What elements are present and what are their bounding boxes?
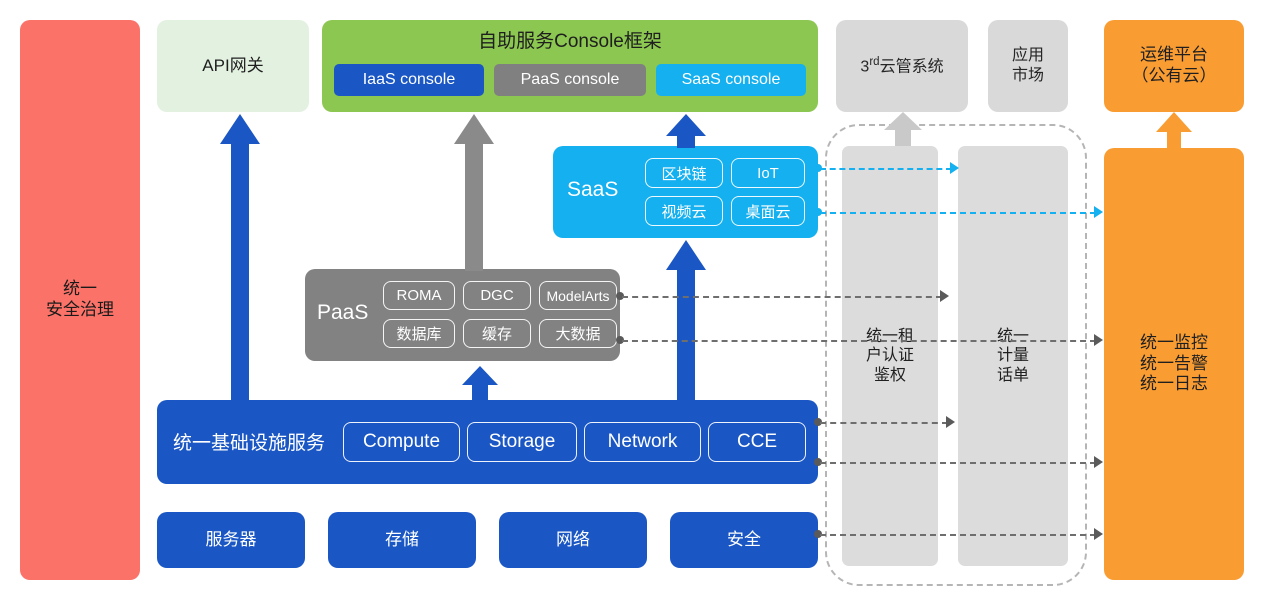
saas-layer: SaaS 区块链 IoT 视频云 桌面云 (553, 146, 818, 238)
third-party-superscript: rd (869, 56, 879, 68)
tenant-auth-line1: 统一租 (866, 327, 914, 347)
paas-console-button[interactable]: PaaS console (494, 64, 646, 96)
flow-arrowhead-infra-2 (1094, 456, 1103, 468)
infra-chip-cce-label: CCE (737, 431, 777, 453)
metering-line3: 话单 (997, 366, 1029, 386)
infra-chip-storage-label: Storage (489, 431, 556, 453)
unified-tenant-auth-column: 统一租 户认证 鉴权 (842, 146, 938, 566)
paas-chip-modelarts-label: ModelArts (546, 288, 609, 304)
saas-chip-video-cloud-label: 视频云 (661, 201, 706, 222)
saas-chip-desktop-cloud-label: 桌面云 (745, 201, 790, 222)
flow-line-infra-1 (820, 422, 948, 424)
paas-chip-database-label: 数据库 (396, 323, 441, 344)
ops-rail-line1: 统一监控 (1140, 333, 1208, 354)
paas-chip-bigdata[interactable]: 大数据 (539, 319, 617, 348)
hardware-storage-label: 存储 (385, 530, 419, 551)
flow-line-saas-1 (820, 168, 952, 170)
iaas-console-label: IaaS console (363, 70, 456, 90)
infra-chip-storage[interactable]: Storage (467, 422, 577, 462)
flow-arrowhead-saas-1 (950, 162, 959, 174)
saas-chip-video-cloud[interactable]: 视频云 (645, 196, 723, 226)
flow-arrowhead-paas-1 (940, 290, 949, 302)
third-party-prefix: 3 (860, 58, 869, 75)
self-service-console-frame: 自助服务Console框架 IaaS console PaaS console … (322, 20, 818, 112)
metering-line2: 计量 (997, 346, 1029, 366)
flow-arrow-paas-to-console (452, 114, 496, 271)
infra-chip-compute[interactable]: Compute (343, 422, 460, 462)
ops-rail-line2: 统一告警 (1140, 354, 1208, 375)
paas-chip-dgc-label: DGC (480, 287, 513, 304)
flow-arrow-infra-to-apigw (218, 114, 262, 402)
saas-console-label: SaaS console (682, 70, 781, 90)
app-market-line1: 应用 (1012, 46, 1044, 66)
infra-chip-compute-label: Compute (363, 431, 440, 453)
paas-layer-label: PaaS (317, 301, 368, 325)
unified-infrastructure-layer: 统一基础设施服务 Compute Storage Network CCE (157, 400, 818, 484)
flow-arrowhead-infra-1 (946, 416, 955, 428)
ops-platform-line2: （公有云） (1132, 66, 1217, 87)
ops-rail-line3: 统一日志 (1140, 374, 1208, 395)
ops-rail-panel: 统一监控 统一告警 统一日志 (1104, 148, 1244, 580)
saas-chip-desktop-cloud[interactable]: 桌面云 (731, 196, 805, 226)
third-party-label: 云管系统 (880, 58, 944, 75)
third-party-label-wrap: 3rd云管系统 (860, 55, 943, 77)
metering-line1: 统一 (997, 327, 1029, 347)
ops-platform-line1: 运维平台 (1132, 45, 1217, 66)
iaas-console-button[interactable]: IaaS console (334, 64, 484, 96)
infra-chip-network-label: Network (608, 431, 678, 453)
saas-chip-blockchain-label: 区块链 (661, 163, 706, 184)
paas-chip-cache[interactable]: 缓存 (463, 319, 531, 348)
security-pillar-line1: 统一 (46, 279, 114, 300)
flow-line-paas-1 (622, 296, 942, 298)
flow-arrowhead-hardware (1094, 528, 1103, 540)
flow-line-paas-2 (622, 340, 1096, 342)
hardware-box-network[interactable]: 网络 (499, 512, 647, 568)
infra-chip-cce[interactable]: CCE (708, 422, 806, 462)
paas-chip-modelarts[interactable]: ModelArts (539, 281, 617, 310)
paas-chip-database[interactable]: 数据库 (383, 319, 455, 348)
app-market-line2: 市场 (1012, 66, 1044, 86)
saas-chip-iot[interactable]: IoT (731, 158, 805, 188)
api-gateway-label: API网关 (202, 56, 263, 77)
flow-arrowhead-paas-2 (1094, 334, 1103, 346)
hardware-box-storage[interactable]: 存储 (328, 512, 476, 568)
hardware-security-label: 安全 (727, 530, 761, 551)
ops-platform-public-cloud-box[interactable]: 运维平台 （公有云） (1104, 20, 1244, 112)
saas-console-button[interactable]: SaaS console (656, 64, 806, 96)
hardware-box-server[interactable]: 服务器 (157, 512, 305, 568)
tenant-auth-line3: 鉴权 (866, 366, 914, 386)
unified-metering-billing-column: 统一 计量 话单 (958, 146, 1068, 566)
paas-chip-roma-label: ROMA (397, 287, 442, 304)
hardware-network-label: 网络 (556, 530, 590, 551)
infra-layer-label: 统一基础设施服务 (173, 428, 325, 455)
hardware-server-label: 服务器 (206, 530, 257, 551)
api-gateway-box[interactable]: API网关 (157, 20, 309, 112)
security-governance-pillar: 统一 安全治理 (20, 20, 140, 580)
flow-arrowhead-saas-2 (1094, 206, 1103, 218)
paas-chip-roma[interactable]: ROMA (383, 281, 455, 310)
app-market-box[interactable]: 应用 市场 (988, 20, 1068, 112)
flow-line-hardware (820, 534, 1096, 536)
flow-line-infra-2 (820, 462, 1096, 464)
third-party-cloud-mgmt-box[interactable]: 3rd云管系统 (836, 20, 968, 112)
paas-chip-bigdata-label: 大数据 (555, 323, 600, 344)
console-frame-title: 自助服务Console框架 (322, 30, 818, 53)
architecture-diagram: 统一 安全治理 API网关 自助服务Console框架 IaaS console… (0, 0, 1265, 605)
paas-console-label: PaaS console (521, 70, 620, 90)
security-pillar-line2: 安全治理 (46, 300, 114, 321)
saas-layer-label: SaaS (567, 178, 618, 202)
grey-up-arrow-3rd-cloud (880, 112, 926, 146)
paas-layer: PaaS ROMA DGC ModelArts 数据库 缓存 大数据 (305, 269, 620, 361)
flow-arrow-infra-to-saas (664, 240, 708, 402)
infra-chip-network[interactable]: Network (584, 422, 701, 462)
hardware-box-security[interactable]: 安全 (670, 512, 818, 568)
paas-chip-cache-label: 缓存 (482, 323, 512, 344)
tenant-auth-line2: 户认证 (866, 346, 914, 366)
flow-line-saas-2 (820, 212, 1096, 214)
flow-arrow-infra-to-paas (460, 366, 500, 402)
saas-chip-iot-label: IoT (757, 165, 779, 182)
orange-up-arrow (1152, 112, 1196, 152)
saas-chip-blockchain[interactable]: 区块链 (645, 158, 723, 188)
paas-chip-dgc[interactable]: DGC (463, 281, 531, 310)
flow-arrow-saas-to-console (664, 114, 708, 148)
